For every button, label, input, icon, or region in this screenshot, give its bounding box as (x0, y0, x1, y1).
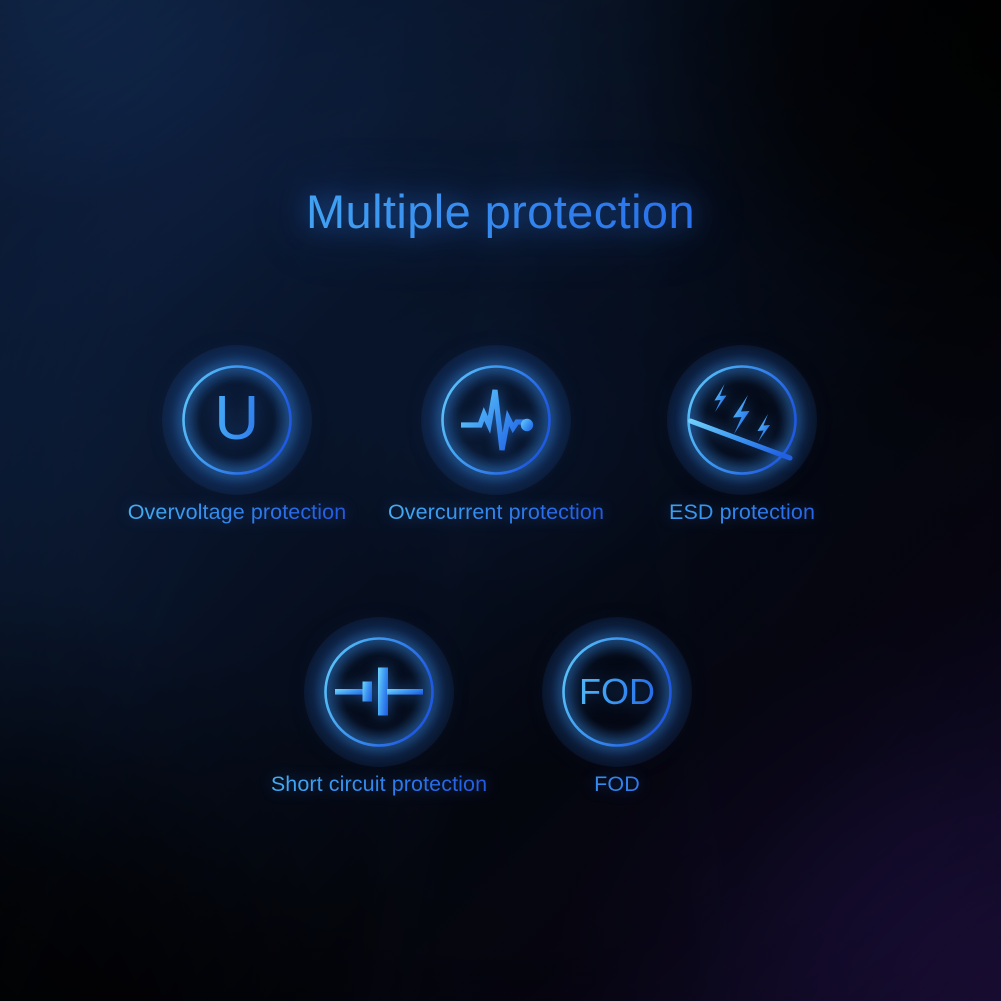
promo-banner: Multiple protection U Overvoltage protec… (0, 0, 1001, 1001)
feature-fod: FOD FOD (487, 636, 747, 797)
glyph-u: U (181, 364, 293, 476)
bolt-large-center (733, 395, 750, 434)
feature-label: Short circuit protection (249, 771, 509, 797)
feature-overvoltage: U Overvoltage protection (107, 364, 367, 525)
circle-ring-with-bolts (686, 364, 798, 476)
circle-ring-with-pulse (440, 364, 552, 476)
bolt-small-right (758, 414, 771, 442)
ground-line (691, 421, 791, 458)
glyph-fod: FOD (561, 636, 673, 748)
esd-lightning-bolts-in-circle-icon (686, 364, 798, 476)
tall-plate (378, 668, 388, 716)
right-lead (387, 689, 423, 695)
feature-label: FOD (487, 771, 747, 797)
letter-u-in-circle-icon: U (181, 364, 293, 476)
feature-esd: ESD protection (612, 364, 872, 525)
circle-ring-with-battery (323, 636, 435, 748)
fod-text-in-circle-icon: FOD (561, 636, 673, 748)
pulse-waveform-in-circle-icon (440, 364, 552, 476)
bolt-small-left (715, 384, 727, 412)
feature-short-circuit: Short circuit protection (249, 636, 509, 797)
feature-label: Overvoltage protection (107, 499, 367, 525)
page-title: Multiple protection (0, 183, 1001, 241)
short-plate (363, 682, 373, 702)
feature-label: Overcurrent protection (366, 499, 626, 525)
feature-overcurrent: Overcurrent protection (366, 364, 626, 525)
feature-label: ESD protection (612, 499, 872, 525)
battery-cell-symbol-in-circle-icon (323, 636, 435, 748)
